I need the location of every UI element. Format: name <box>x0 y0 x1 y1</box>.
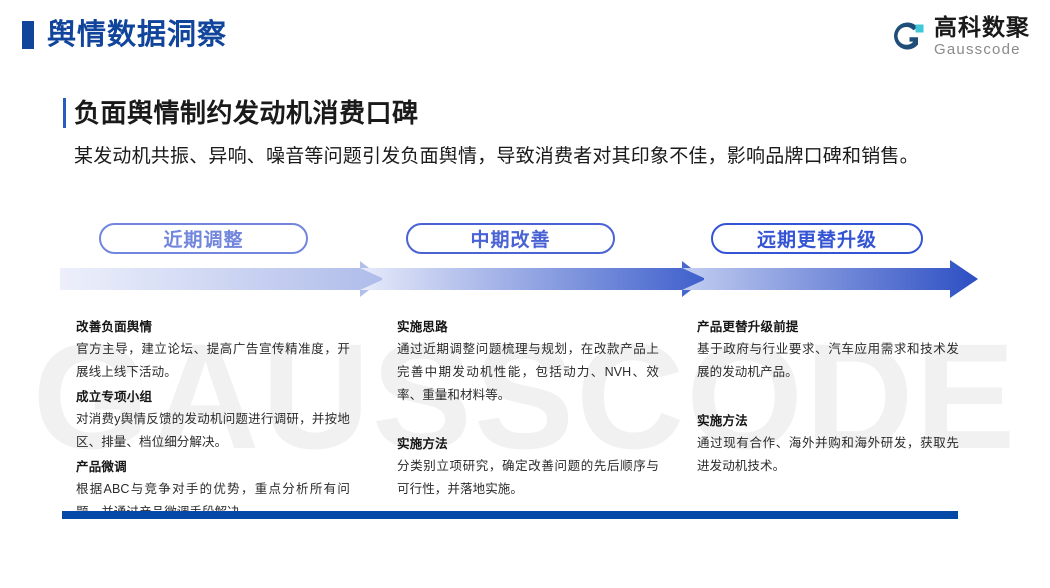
content-column-near-term: 改善负面舆情 官方主导，建立论坛、提高广告宣传精准度，开展线上线下活动。 成立专… <box>76 316 350 526</box>
block-title: 实施方法 <box>397 433 659 455</box>
phase-pill-near-term[interactable]: 近期调整 <box>99 223 308 254</box>
footer-accent-bar <box>62 511 958 519</box>
block-body: 通过近期调整问题梳理与规划，在改款产品上完善中期发动机性能，包括动力、NVH、效… <box>397 338 659 407</box>
block-title: 实施思路 <box>397 316 659 338</box>
gausscode-g-logo-icon <box>888 17 926 55</box>
block-body: 通过现有合作、海外并购和海外研发，获取先进发动机技术。 <box>697 432 959 478</box>
brand-logo-text: 高科数聚 Gausscode <box>934 16 1030 57</box>
main-heading: 负面舆情制约发动机消费口碑 <box>74 96 419 130</box>
content-column-long-term: 产品更替升级前提 基于政府与行业要求、汽车应用需求和技术发展的发动机产品。 实施… <box>697 316 959 480</box>
header-bullet-icon <box>22 21 34 49</box>
brand-name-en: Gausscode <box>934 42 1030 57</box>
block-body: 分类别立项研究，确定改善问题的先后顺序与可行性，并落地实施。 <box>397 455 659 501</box>
brand-name-cn: 高科数聚 <box>934 16 1030 39</box>
phase-pill-long-term[interactable]: 远期更替升级 <box>711 223 923 254</box>
block-body: 对消费y舆情反馈的发动机问题进行调研，并按地区、排量、档位细分解决。 <box>76 408 350 454</box>
page-title: 舆情数据洞察 <box>47 15 227 55</box>
page-header: 舆情数据洞察 高科数聚 Gausscode <box>0 0 1050 72</box>
content-block: 实施方法 分类别立项研究，确定改善问题的先后顺序与可行性，并落地实施。 <box>397 433 659 501</box>
heading-accent-bar <box>63 98 66 128</box>
block-body: 官方主导，建立论坛、提高广告宣传精准度，开展线上线下活动。 <box>76 338 350 384</box>
block-title: 改善负面舆情 <box>76 316 350 338</box>
content-block: 实施思路 通过近期调整问题梳理与规划，在改款产品上完善中期发动机性能，包括动力、… <box>397 316 659 407</box>
block-title: 产品更替升级前提 <box>697 316 959 338</box>
block-title: 实施方法 <box>697 410 959 432</box>
timeline-arrow-icon <box>60 258 980 306</box>
block-title: 产品微调 <box>76 456 350 478</box>
sub-heading: 某发动机共振、异响、噪音等问题引发负面舆情，导致消费者对其印象不佳，影响品牌口碑… <box>74 143 919 171</box>
content-block: 改善负面舆情 官方主导，建立论坛、提高广告宣传精准度，开展线上线下活动。 <box>76 316 350 384</box>
content-block: 产品更替升级前提 基于政府与行业要求、汽车应用需求和技术发展的发动机产品。 <box>697 316 959 384</box>
content-column-mid-term: 实施思路 通过近期调整问题梳理与规划，在改款产品上完善中期发动机性能，包括动力、… <box>397 316 659 503</box>
content-block: 实施方法 通过现有合作、海外并购和海外研发，获取先进发动机技术。 <box>697 410 959 478</box>
block-body: 基于政府与行业要求、汽车应用需求和技术发展的发动机产品。 <box>697 338 959 384</box>
brand-logo: 高科数聚 Gausscode <box>888 13 1030 59</box>
phase-pill-mid-term[interactable]: 中期改善 <box>406 223 615 254</box>
block-title: 成立专项小组 <box>76 386 350 408</box>
content-block: 成立专项小组 对消费y舆情反馈的发动机问题进行调研，并按地区、排量、档位细分解决… <box>76 386 350 454</box>
